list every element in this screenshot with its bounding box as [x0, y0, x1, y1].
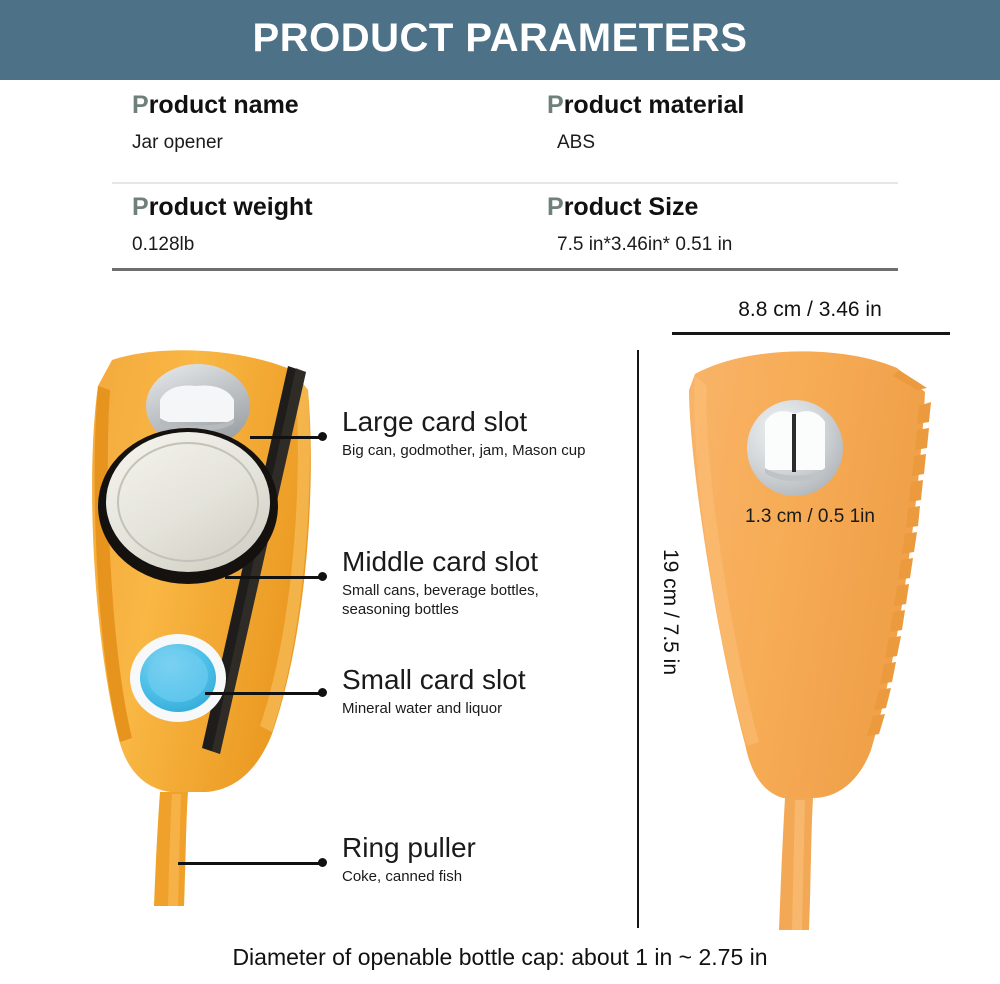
- leader-dot-ring-puller: [318, 858, 327, 867]
- callout-small-card-slot: Small card slot Mineral water and liquor: [342, 664, 526, 718]
- spec-label-text: roduct material: [564, 91, 745, 119]
- spec-value-product-weight: 0.128lb: [132, 232, 505, 258]
- spec-row-1: Product name Jar opener Product material…: [112, 82, 898, 170]
- leader-line-large-slot: [250, 436, 320, 439]
- callout-subtitle-line: Big can, godmother, jam, Mason cup: [342, 441, 585, 460]
- label-initial-cap: P: [132, 193, 149, 221]
- spec-label-text: roduct name: [149, 91, 299, 119]
- spec-label-text: roduct Size: [564, 193, 699, 221]
- leader-dot-large-slot: [318, 432, 327, 441]
- spec-label-text: roduct weight: [149, 193, 313, 221]
- spec-cell-product-material: Product material ABS: [505, 82, 898, 170]
- label-initial-cap: P: [547, 193, 564, 221]
- label-initial-cap: P: [132, 91, 149, 119]
- spec-label-product-material: Product material: [547, 88, 898, 122]
- spec-cell-product-size: Product Size 7.5 in*3.46in* 0.51 in: [505, 184, 898, 272]
- leader-line-middle-slot: [225, 576, 320, 579]
- leader-dot-small-slot: [318, 688, 327, 697]
- spec-cell-product-weight: Product weight 0.128lb: [112, 184, 505, 272]
- label-initial-cap: P: [547, 91, 564, 119]
- spec-table: Product name Jar opener Product material…: [112, 82, 898, 272]
- hole-dimension-label: 1.3 cm / 0.5 1in: [690, 506, 930, 528]
- callout-subtitle-line: Mineral water and liquor: [342, 699, 526, 718]
- opener-hole-divider: [792, 414, 796, 472]
- callout-title: Middle card slot: [342, 546, 539, 578]
- page-title: PRODUCT PARAMETERS: [0, 16, 1000, 61]
- leader-dot-middle-slot: [318, 572, 327, 581]
- opener-cap-face: [160, 386, 234, 422]
- spec-value-product-name: Jar opener: [132, 130, 505, 156]
- leader-line-small-slot: [205, 692, 320, 695]
- spec-label-product-weight: Product weight: [132, 190, 505, 224]
- spec-row-2: Product weight 0.128lb Product Size 7.5 …: [112, 184, 898, 272]
- right-product-photo: [655, 330, 985, 930]
- callout-large-card-slot: Large card slot Big can, godmother, jam,…: [342, 406, 585, 460]
- callout-subtitle-line: seasoning bottles: [342, 600, 539, 619]
- spec-label-product-name: Product name: [132, 88, 505, 122]
- callout-subtitle-line: Coke, canned fish: [342, 867, 476, 886]
- callout-title: Small card slot: [342, 664, 526, 696]
- callout-middle-card-slot: Middle card slot Small cans, beverage bo…: [342, 546, 539, 619]
- callout-subtitle-line: Small cans, beverage bottles,: [342, 581, 539, 600]
- spec-value-product-material: ABS: [547, 130, 898, 156]
- footer-caption: Diameter of openable bottle cap: about 1…: [0, 944, 1000, 971]
- callout-ring-puller: Ring puller Coke, canned fish: [342, 832, 476, 886]
- leader-line-ring-puller: [178, 862, 320, 865]
- spec-label-product-size: Product Size: [547, 190, 898, 224]
- callout-title: Large card slot: [342, 406, 585, 438]
- spec-cell-product-name: Product name Jar opener: [112, 82, 505, 170]
- table-divider-dark: [112, 268, 898, 271]
- table-divider-light: [112, 182, 898, 184]
- product-parameters-infographic: PRODUCT PARAMETERS Product name Jar open…: [0, 0, 1000, 984]
- spec-value-product-size: 7.5 in*3.46in* 0.51 in: [547, 232, 898, 258]
- large-jar-lid: [106, 432, 270, 572]
- dimension-width-label: 8.8 cm / 3.46 in: [660, 298, 960, 322]
- small-cap-inner: [148, 650, 208, 702]
- left-product-photo: [20, 330, 350, 910]
- dimension-height-line: [637, 350, 639, 928]
- callout-title: Ring puller: [342, 832, 476, 864]
